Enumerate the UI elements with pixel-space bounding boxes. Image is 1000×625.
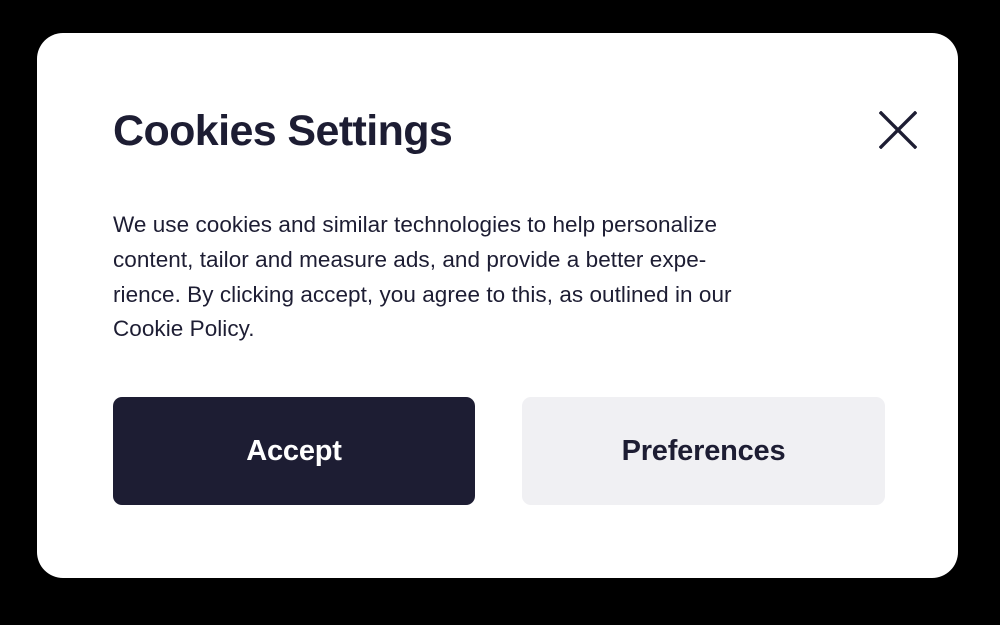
description-line: We use cookies and similar technologies … (113, 208, 903, 243)
description-line: content, tailor and measure ads, and pro… (113, 243, 903, 278)
description-line: Cookie Policy. (113, 312, 903, 347)
dialog-header: Cookies Settings (113, 105, 921, 165)
close-button[interactable] (875, 107, 921, 153)
screen-backdrop: Cookies Settings We use cookies and simi… (0, 0, 1000, 625)
page-title: Cookies Settings (113, 105, 452, 157)
description-line: rience. By clicking accept, you agree to… (113, 278, 903, 313)
accept-button[interactable]: Accept (113, 397, 475, 505)
dialog-action-row: Accept Preferences (113, 397, 885, 505)
cookies-settings-dialog: Cookies Settings We use cookies and simi… (37, 33, 958, 578)
dialog-description: We use cookies and similar technologies … (113, 208, 903, 347)
close-x-icon (879, 111, 917, 149)
preferences-button[interactable]: Preferences (522, 397, 885, 505)
